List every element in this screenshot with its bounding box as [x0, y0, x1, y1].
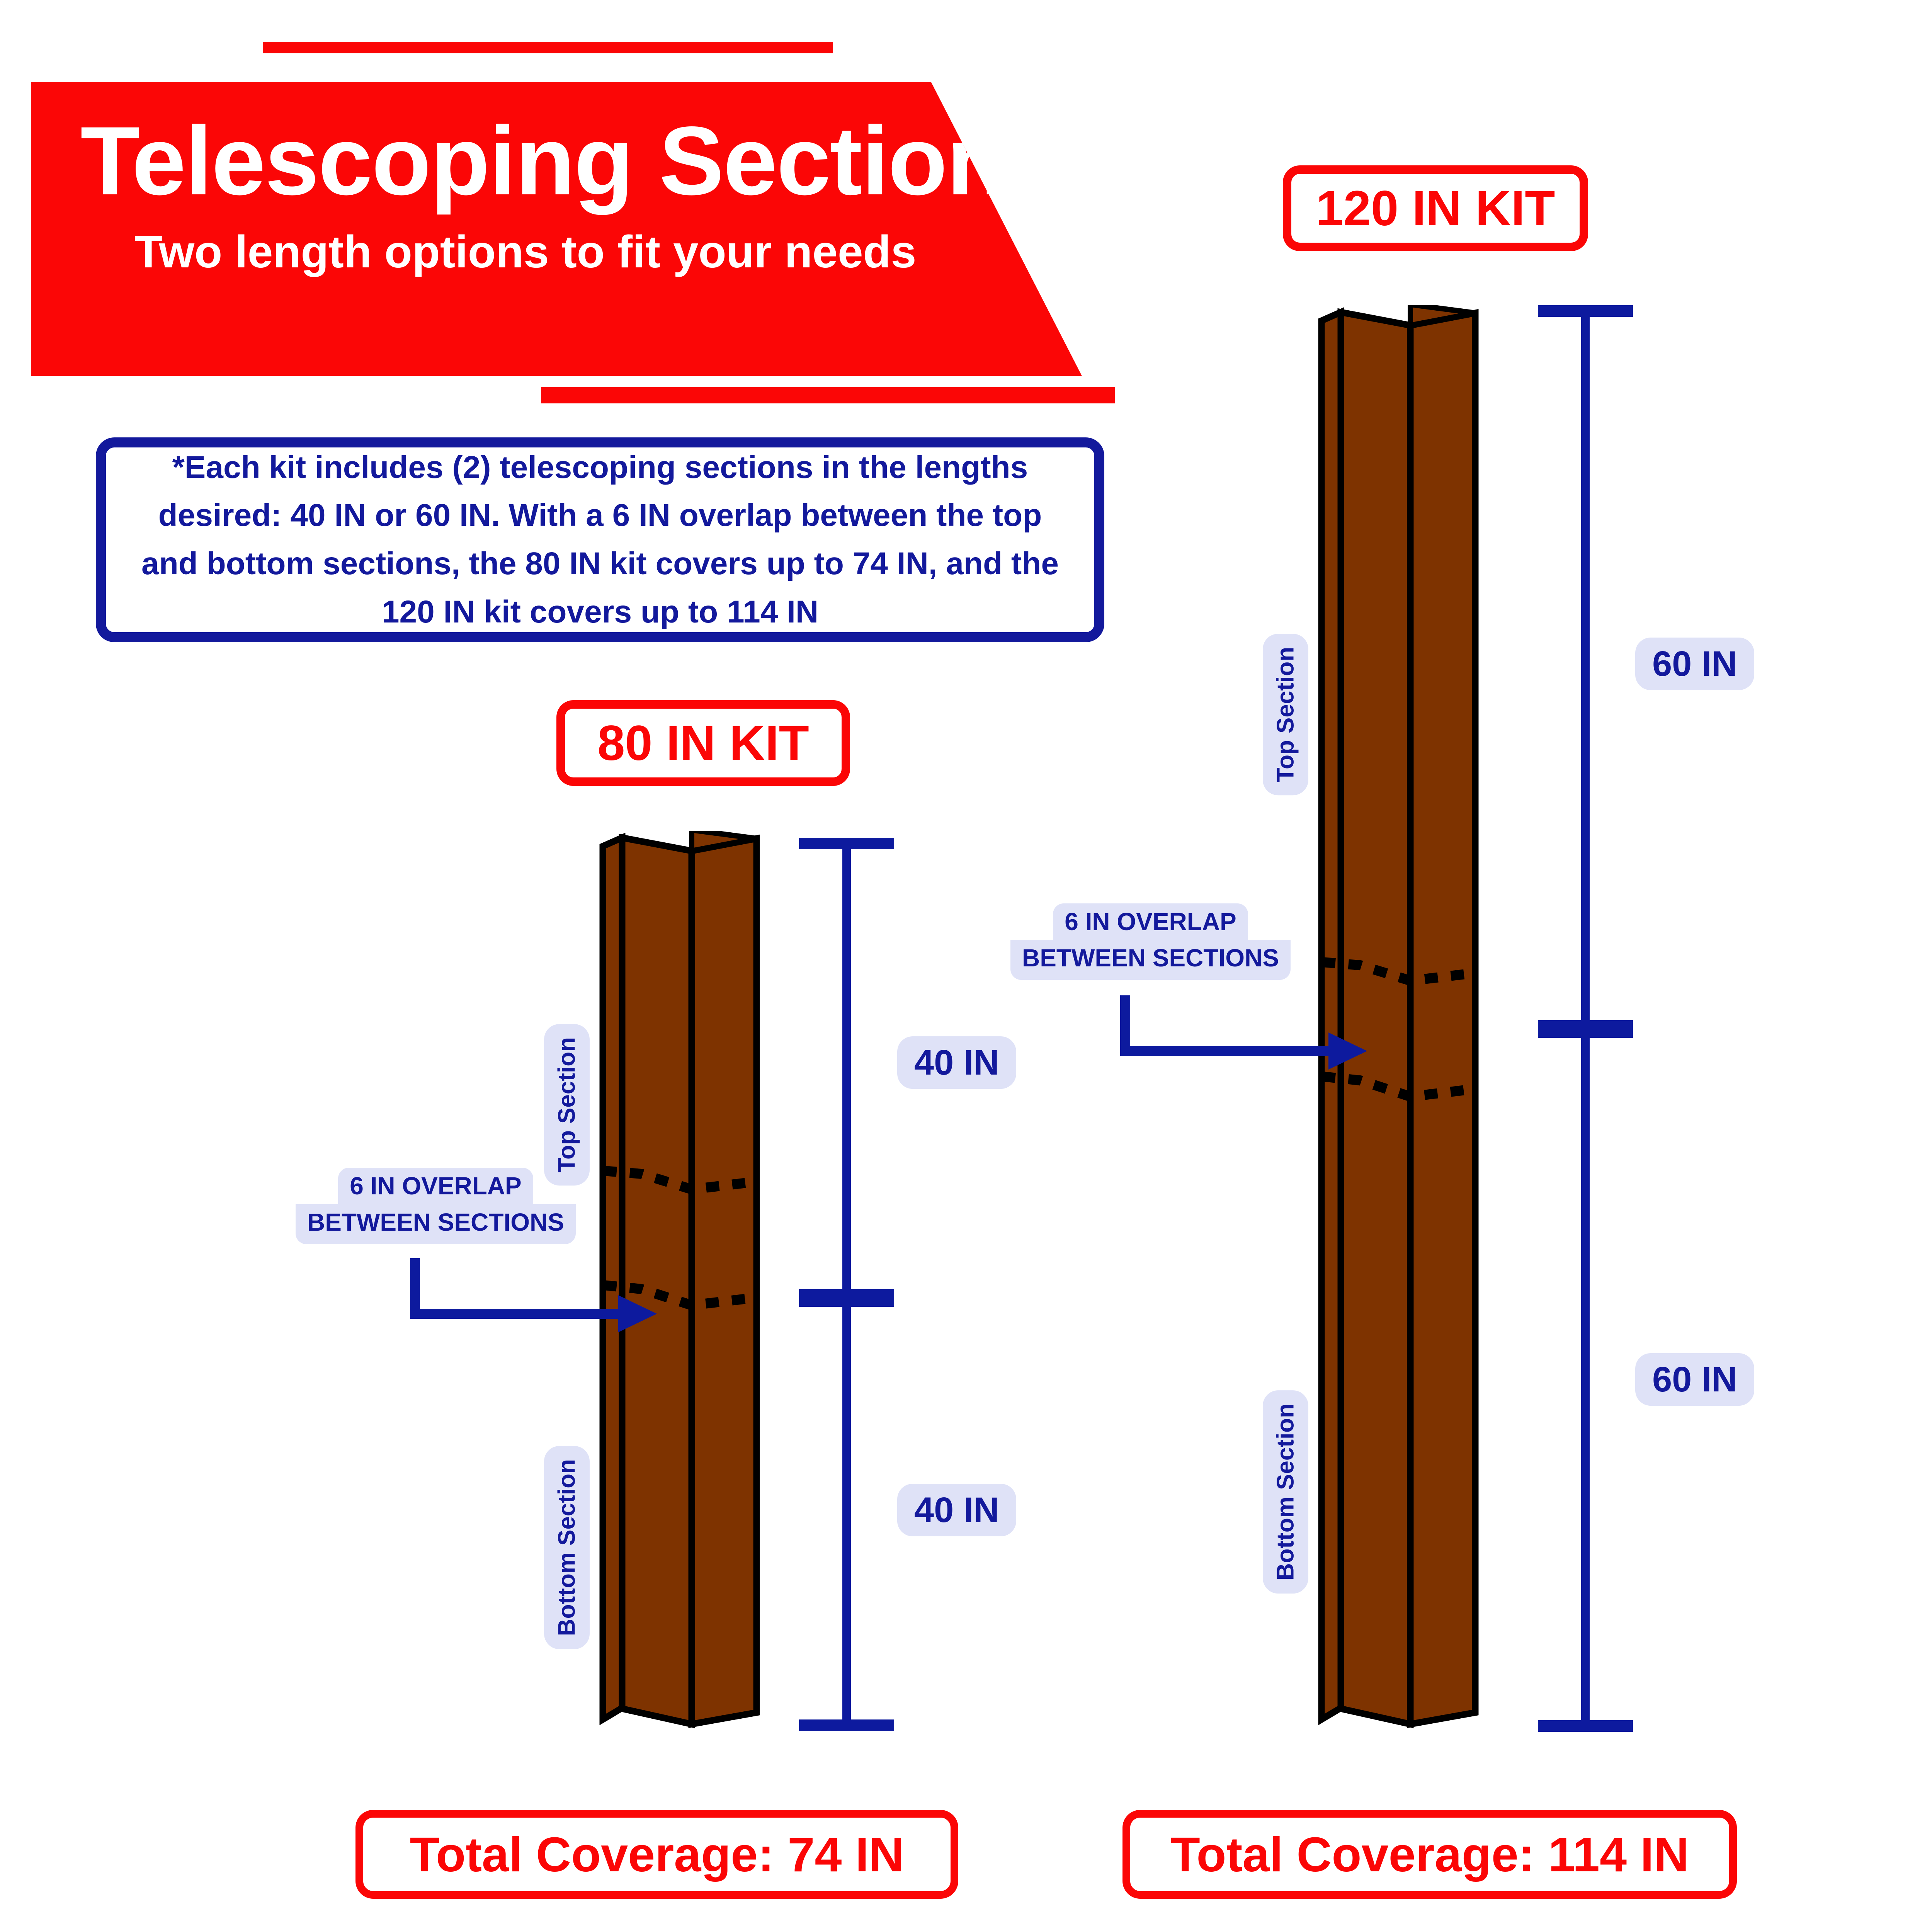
dimension-line-120	[1581, 305, 1590, 1732]
length-label-bottom-120: 60 IN	[1635, 1353, 1754, 1406]
section-label-bottom-120: Bottom Section	[1263, 1390, 1308, 1594]
overlap-label-line1-80: 6 IN OVERLAP	[338, 1168, 533, 1204]
overlap-label-line2-80: BETWEEN SECTIONS	[296, 1204, 576, 1244]
section-label-top-120: Top Section	[1263, 634, 1308, 795]
overlap-annotation-120: 6 IN OVERLAP BETWEEN SECTIONS	[1010, 903, 1291, 980]
kit-note-text: *Each kit includes (2) telescoping secti…	[106, 444, 1094, 636]
length-label-bottom-80: 40 IN	[897, 1484, 1016, 1536]
dimension-tick-bottom-80	[799, 1719, 894, 1731]
kit-badge-120: 120 IN KIT	[1283, 165, 1588, 251]
kit-badge-80: 80 IN KIT	[556, 700, 850, 786]
dimension-tick-mid-120	[1538, 1020, 1633, 1038]
section-label-bottom-80: Bottom Section	[544, 1446, 590, 1649]
dimension-tick-mid-80	[799, 1289, 894, 1307]
overlap-annotation-80: 6 IN OVERLAP BETWEEN SECTIONS	[296, 1168, 576, 1244]
kit-note-box: *Each kit includes (2) telescoping secti…	[96, 437, 1104, 642]
coverage-badge-80: Total Coverage: 74 IN	[355, 1810, 958, 1899]
dimension-tick-top-120	[1538, 305, 1633, 317]
length-label-top-80: 40 IN	[897, 1036, 1016, 1089]
overlap-label-line1-120: 6 IN OVERLAP	[1053, 903, 1248, 940]
header-banner: Telescoping Sections Two length options …	[31, 82, 1082, 376]
overlap-label-line2-120: BETWEEN SECTIONS	[1010, 940, 1291, 980]
coverage-badge-120: Total Coverage: 114 IN	[1122, 1810, 1737, 1899]
dimension-tick-top-80	[799, 838, 894, 849]
header-accent-bar-bottom	[541, 387, 1115, 403]
dimension-tick-bottom-120	[1538, 1720, 1633, 1732]
dimension-line-80	[842, 838, 851, 1731]
page-title: Telescoping Sections	[80, 112, 1059, 210]
overlap-leader-arrow-80	[410, 1256, 661, 1352]
section-label-top-80: Top Section	[544, 1024, 590, 1185]
page-subtitle: Two length options to fit your needs	[134, 229, 916, 275]
overlap-leader-arrow-120	[1120, 993, 1371, 1090]
length-label-top-120: 60 IN	[1635, 638, 1754, 690]
header-accent-bar-top	[263, 42, 833, 53]
